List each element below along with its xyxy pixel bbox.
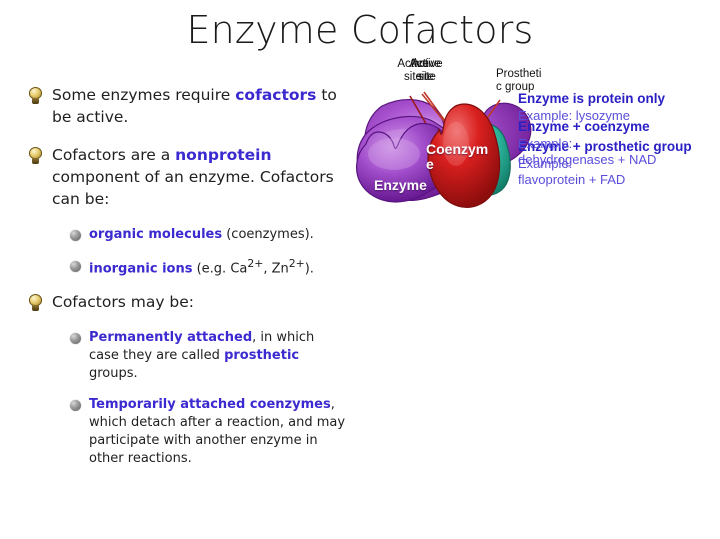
- lightbulb-icon: [28, 147, 43, 165]
- sub-bullet-list: organic molecules (coenzymes).inorganic …: [70, 226, 348, 278]
- bulb-base: [32, 305, 39, 311]
- sub-bullet-item: Permanently attached, in which case they…: [70, 329, 348, 383]
- body-text: ).: [305, 261, 314, 276]
- sub-bullet-text: Permanently attached, in which case they…: [89, 329, 348, 383]
- highlight-term: inorganic ions: [89, 261, 192, 276]
- lightbulb-icon: [28, 294, 43, 312]
- bullet-item: Some enzymes require cofactors to be act…: [28, 84, 348, 128]
- highlight-term: prosthetic: [224, 348, 299, 363]
- body-text: (e.g. Ca: [192, 261, 247, 276]
- body-text: groups.: [89, 366, 138, 381]
- caption-heading: Enzyme + coenzyme: [518, 118, 720, 136]
- bullet-text: Cofactors are a nonprotein component of …: [52, 144, 348, 210]
- sub-bullet-text: organic molecules (coenzymes).: [89, 226, 314, 244]
- caption-line: Example:: [518, 136, 720, 153]
- bullet-list: Some enzymes require cofactors to be act…: [28, 84, 348, 481]
- body-text: (coenzymes).: [222, 227, 314, 242]
- body-text: , Zn: [263, 261, 288, 276]
- bulb-base: [32, 98, 39, 104]
- bullet-text: Cofactors may be:: [52, 291, 194, 313]
- sphere-bullet-icon: [70, 333, 81, 344]
- body-text: Cofactors are a: [52, 146, 175, 164]
- sub-bullet-text: inorganic ions (e.g. Ca2+, Zn2+).: [89, 257, 314, 278]
- bulb-base: [32, 158, 39, 164]
- superscript: 2+: [247, 257, 263, 270]
- lightbulb-icon: [28, 87, 43, 105]
- diagram-column: Active site Enzyme Enzyme is protei: [352, 56, 720, 534]
- caption-enzyme-coenzyme: Enzyme + coenzyme Example: dehydrogenase…: [518, 118, 720, 169]
- page-title: Enzyme Cofactors: [0, 8, 720, 52]
- bullet-item: Cofactors are a nonprotein component of …: [28, 144, 348, 210]
- highlight-term: organic molecules: [89, 227, 222, 242]
- bullet-text: Some enzymes require cofactors to be act…: [52, 84, 348, 128]
- body-text: Cofactors may be:: [52, 293, 194, 311]
- highlight-term: Permanently attached: [89, 330, 252, 345]
- highlight-term: cofactors: [235, 86, 316, 104]
- sphere-bullet-icon: [70, 261, 81, 272]
- highlight-term: Temporarily attached coenzymes: [89, 397, 331, 412]
- caption-line: dehydrogenases + NAD: [518, 152, 720, 169]
- superscript: 2+: [289, 257, 305, 270]
- diagram-enzyme-coenzyme: Active site: [352, 56, 720, 219]
- highlight-term: nonprotein: [175, 146, 271, 164]
- body-text: Some enzymes require: [52, 86, 235, 104]
- sub-bullet-list: Permanently attached, in which case they…: [70, 329, 348, 468]
- sub-bullet-item: inorganic ions (e.g. Ca2+, Zn2+).: [70, 257, 348, 278]
- sub-bullet-item: organic molecules (coenzymes).: [70, 226, 348, 244]
- body-text: component of an enzyme. Cofactors can be…: [52, 168, 334, 208]
- sphere-bullet-icon: [70, 230, 81, 241]
- sphere-bullet-icon: [70, 400, 81, 411]
- bullet-item: Cofactors may be:: [28, 291, 348, 313]
- sub-bullet-text: Temporarily attached coenzymes, which de…: [89, 396, 348, 468]
- sub-bullet-item: Temporarily attached coenzymes, which de…: [70, 396, 348, 468]
